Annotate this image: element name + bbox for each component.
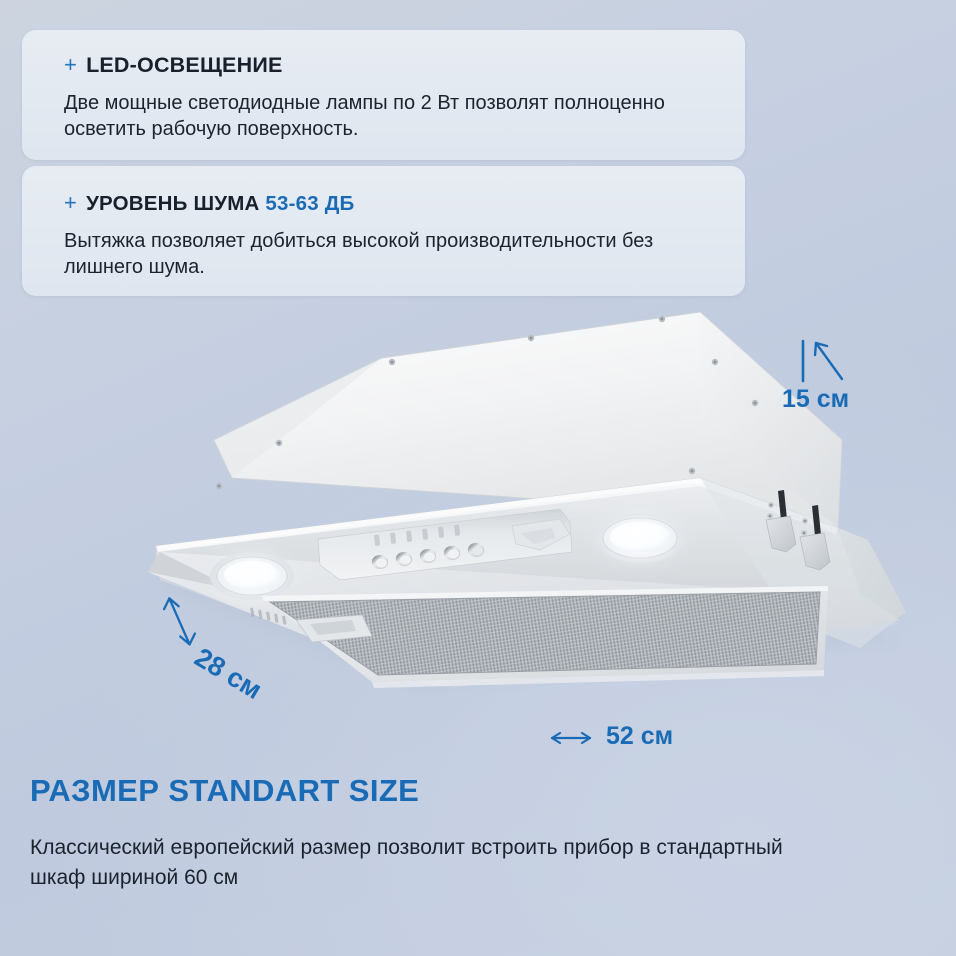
plus-icon: + — [64, 52, 77, 78]
led-lamp-right — [596, 511, 684, 565]
feature-card-noise-title-highlight: 53-63 ДБ — [265, 192, 354, 215]
feature-card-noise-title-text: УРОВЕНЬ ШУМА — [86, 192, 259, 215]
dimension-height: 15 см — [782, 385, 849, 414]
feature-card-noise-title: +УРОВЕНЬ ШУМА 53-63 ДБ — [64, 190, 355, 216]
grease-filter — [250, 586, 828, 688]
control-button — [396, 552, 412, 566]
feature-card-led-title-text: LED-ОСВЕЩЕНИЕ — [86, 53, 282, 77]
control-button — [420, 549, 436, 563]
feature-card-noise-body: Вытяжка позволяет добиться высокой произ… — [64, 228, 719, 280]
control-button — [468, 543, 484, 557]
width-arrow-icon — [546, 724, 596, 752]
feature-card-led: +LED-ОСВЕЩЕНИЕ Две мощные светодиодные л… — [22, 30, 745, 160]
bottom-heading: РАЗМЕР STANDART SIZE — [30, 773, 419, 809]
height-arrow-icon — [798, 335, 858, 391]
plus-icon: + — [64, 190, 77, 216]
led-lamp-left — [210, 550, 294, 602]
feature-card-noise: +УРОВЕНЬ ШУМА 53-63 ДБ Вытяжка позволяет… — [22, 166, 745, 296]
control-button — [372, 555, 388, 569]
control-button — [444, 546, 460, 560]
bottom-description: Классический европейский размер позволит… — [30, 833, 790, 893]
feature-card-led-body: Две мощные светодиодные лампы по 2 Вт по… — [64, 90, 719, 142]
infographic-page: +LED-ОСВЕЩЕНИЕ Две мощные светодиодные л… — [0, 0, 956, 956]
feature-card-led-title: +LED-ОСВЕЩЕНИЕ — [64, 52, 283, 78]
dimension-width-label: 52 см — [606, 722, 673, 751]
